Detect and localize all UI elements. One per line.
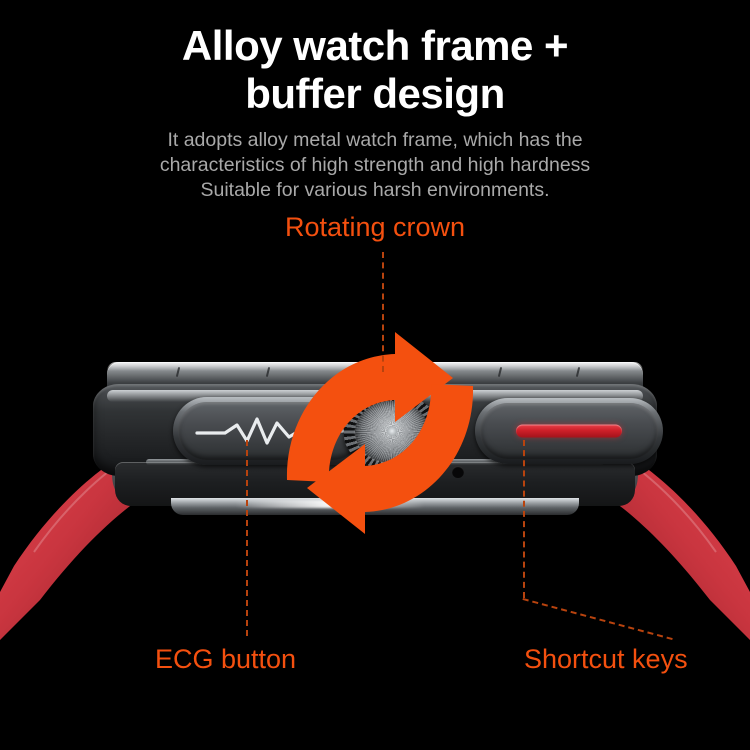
shortcut-button-face [480, 403, 658, 459]
callout-label: Rotating crown [285, 212, 465, 242]
callout-rotating-crown: Rotating crown [0, 212, 750, 243]
callout-label: ECG button [155, 644, 296, 674]
smartwatch-product-image [0, 0, 750, 750]
red-bar-icon [516, 425, 622, 438]
callout-label: Shortcut keys [524, 644, 688, 674]
callout-shortcut-keys: Shortcut keys [524, 644, 688, 675]
callout-ecg-button: ECG button [155, 644, 296, 675]
bezel-notch [498, 367, 502, 377]
bezel-notch [576, 367, 580, 377]
marketing-slide: Alloy watch frame + buffer design It ado… [0, 0, 750, 750]
bezel-notch [176, 367, 180, 377]
rotation-arrows-icon [275, 330, 485, 535]
shortcut-button[interactable] [475, 398, 663, 464]
bezel-notch [266, 367, 270, 377]
